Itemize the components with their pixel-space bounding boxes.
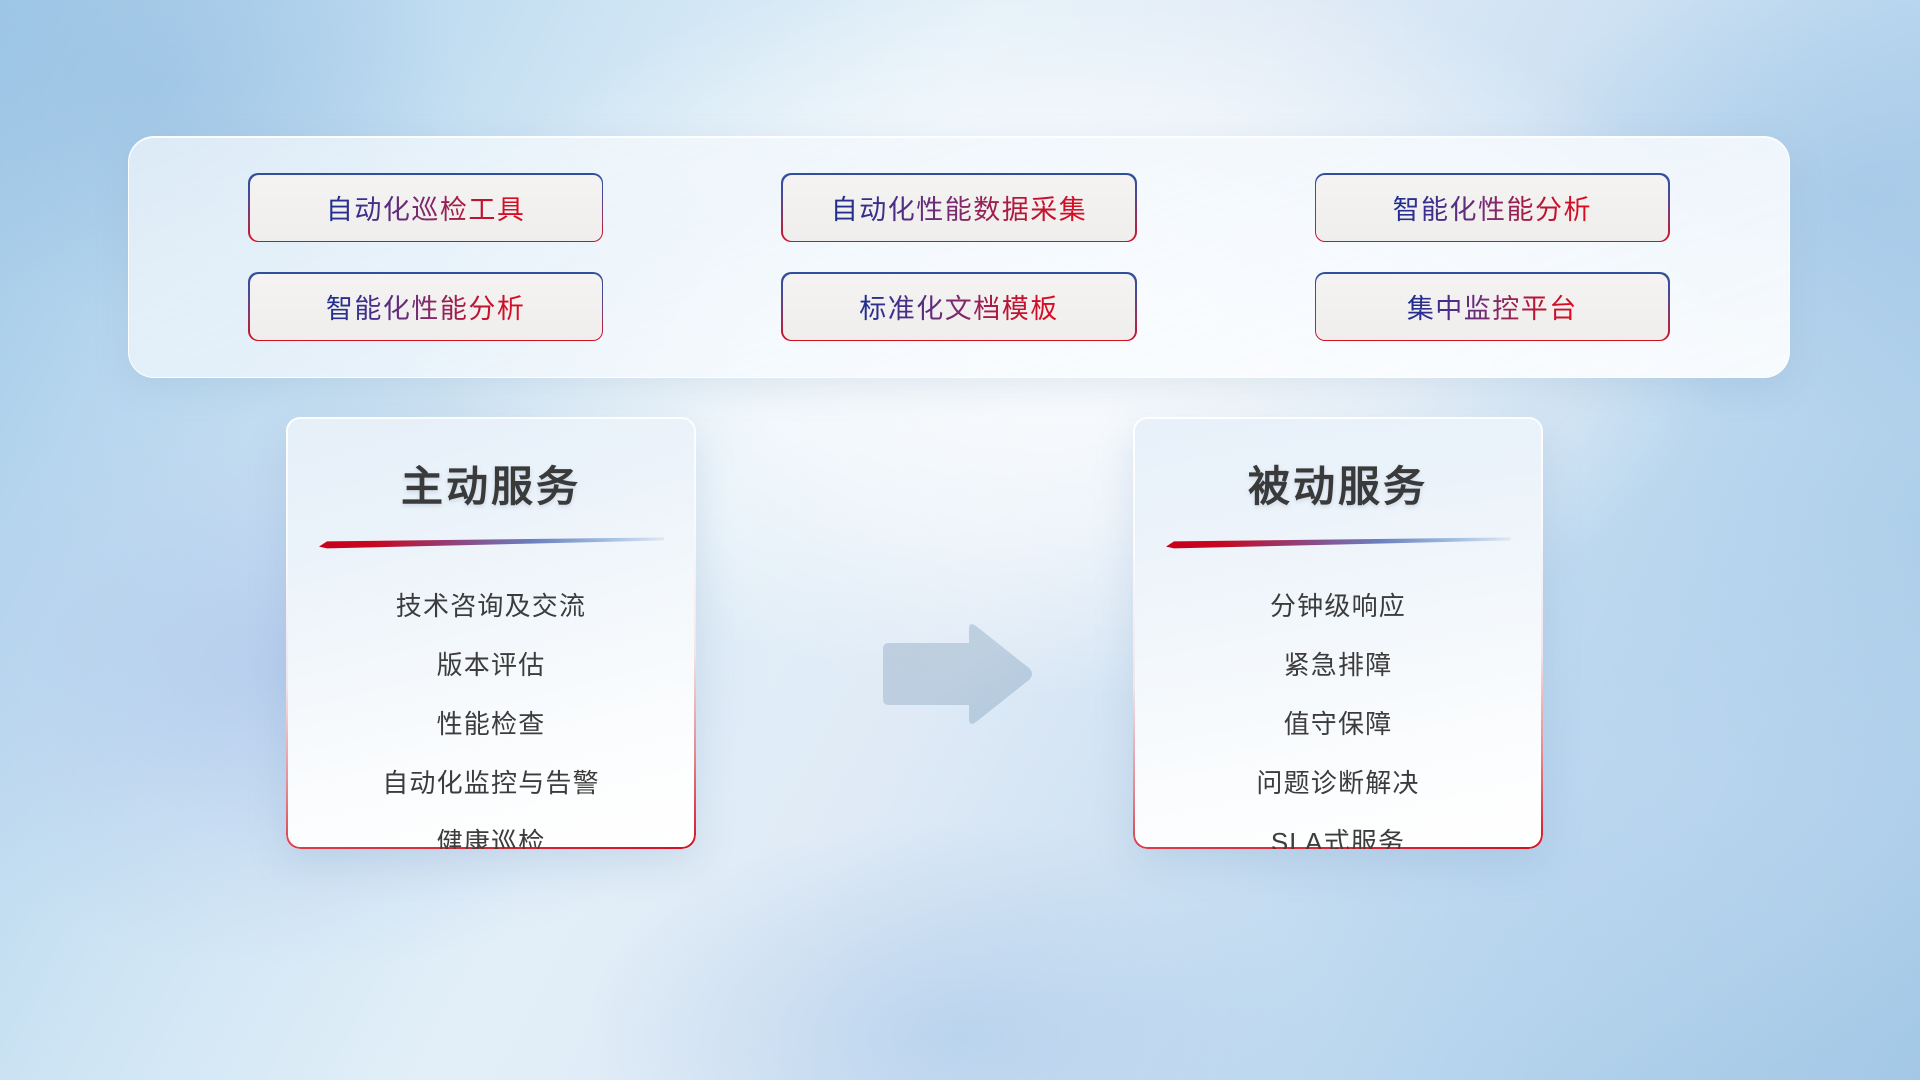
capability-tag[interactable]: 自动化巡检工具 [250,175,602,241]
capability-tag-label: 集中监控平台 [1407,287,1578,326]
card-list-item[interactable]: 版本评估 [437,636,546,695]
card-title: 主动服务 [286,453,696,514]
card-item-list: 分钟级响应 紧急排障 值守保障 问题诊断解决 SLA式服务 [1133,577,1543,849]
service-card-proactive[interactable]: 主动服务 技术咨询及交流 版本评估 性能检查 自动化监控与告警 健康巡检 [286,417,696,849]
capability-tag-label: 自动化性能数据采集 [831,188,1088,227]
capability-tag-label: 自动化巡检工具 [326,188,526,227]
card-list-item[interactable]: 问题诊断解决 [1256,754,1419,813]
card-list-item[interactable]: 分钟级响应 [1270,577,1406,636]
service-card-reactive[interactable]: 被动服务 分钟级响应 紧急排障 值守保障 问题诊断解决 SLA式服务 [1133,417,1543,849]
capability-tag[interactable]: 智能化性能分析 [250,274,602,340]
capability-tag[interactable]: 集中监控平台 [1316,274,1668,340]
capability-tag-label: 智能化性能分析 [1393,188,1593,227]
card-item-list: 技术咨询及交流 版本评估 性能检查 自动化监控与告警 健康巡检 [286,577,696,849]
capability-tag[interactable]: 标准化文档模板 [783,274,1135,340]
capability-tag-label: 智能化性能分析 [326,287,526,326]
card-list-item[interactable]: 紧急排障 [1284,636,1393,695]
card-divider-icon [1166,537,1511,549]
capability-tag-label: 标准化文档模板 [859,287,1059,326]
card-list-item[interactable]: 值守保障 [1284,695,1393,754]
card-list-item[interactable]: SLA式服务 [1271,813,1405,849]
capability-tag[interactable]: 自动化性能数据采集 [783,175,1135,241]
card-title: 被动服务 [1133,453,1543,514]
card-list-item[interactable]: 技术咨询及交流 [396,577,586,636]
capability-tag[interactable]: 智能化性能分析 [1316,175,1668,241]
capability-tag-grid: 自动化巡检工具 自动化性能数据采集 智能化性能分析 智能化性能分析 标准化文档模… [129,137,1789,377]
card-divider-icon [319,537,664,549]
right-arrow-icon [875,621,1035,727]
card-list-item[interactable]: 性能检查 [437,695,546,754]
card-list-item[interactable]: 健康巡检 [437,813,546,849]
capability-tag-panel: 自动化巡检工具 自动化性能数据采集 智能化性能分析 智能化性能分析 标准化文档模… [128,136,1790,378]
card-list-item[interactable]: 自动化监控与告警 [382,754,600,813]
